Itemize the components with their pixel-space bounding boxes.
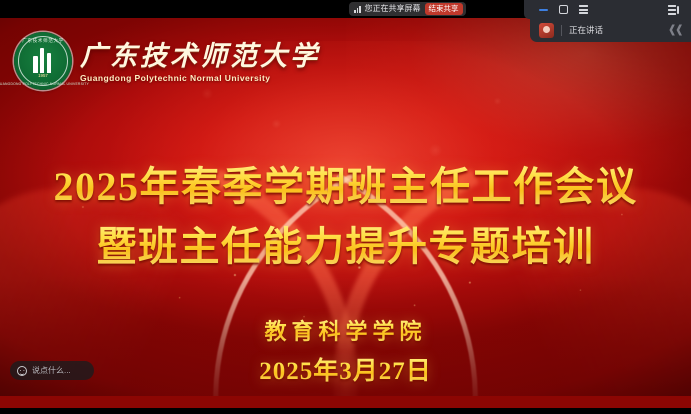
share-status-text: 您正在共享屏幕 — [365, 5, 421, 13]
slide-date: 2025年3月27日 — [0, 351, 691, 387]
university-name-cn: 广东技术师范大学 — [80, 41, 320, 71]
chat-placeholder-text: 说点什么... — [32, 367, 71, 375]
signal-bars-icon — [354, 6, 361, 13]
emblem-year: 1957 — [38, 73, 48, 78]
active-speaker-strip[interactable]: 正在讲话 ❰❰ — [530, 19, 691, 42]
smiley-face-icon[interactable] — [17, 366, 27, 376]
layout-panel-icon[interactable] — [668, 4, 679, 15]
participant-avatar — [539, 23, 554, 38]
emblem-tower-mark — [33, 47, 53, 73]
screen-share-status-bar: 您正在共享屏幕 结束共享 — [349, 2, 466, 16]
double-chevron-left-icon[interactable]: ❰❰ — [668, 25, 682, 36]
slide-bottom-border — [0, 396, 691, 408]
screen-share-window: 广东技术师范大学 1957 GUANGDONG POLYTECHNIC NORM… — [0, 0, 691, 414]
chat-input[interactable]: 说点什么... — [10, 361, 94, 380]
window-bottom-bar — [0, 408, 691, 414]
university-name-en: Guangdong Polytechnic Normal University — [80, 73, 320, 83]
slide-title-line-2: 暨班主任能力提升专题培训 — [0, 214, 691, 272]
window-controls-bar — [524, 0, 691, 19]
strip-divider — [561, 25, 562, 36]
slide-department: 教育科学学院 — [0, 314, 691, 346]
stop-share-button[interactable]: 结束共享 — [425, 3, 463, 15]
slide-title-line-1: 2025年春季学期班主任工作会议 — [0, 154, 691, 212]
university-name-block: 广东技术师范大学 Guangdong Polytechnic Normal Un… — [80, 39, 320, 82]
university-emblem-icon: 广东技术师范大学 1957 GUANGDONG POLYTECHNIC NORM… — [14, 32, 72, 90]
minimize-icon[interactable] — [538, 4, 549, 15]
emblem-arc-top-text: 广东技术师范大学 — [22, 38, 64, 44]
list-view-icon[interactable] — [578, 4, 589, 15]
emblem-arc-bottom-text: GUANGDONG POLYTECHNIC NORMAL UNIVERSITY — [0, 82, 89, 86]
shared-slide-content: 广东技术师范大学 1957 GUANGDONG POLYTECHNIC NORM… — [0, 18, 691, 396]
speaking-status-text: 正在讲话 — [569, 26, 603, 35]
maximize-icon[interactable] — [558, 4, 569, 15]
university-branding: 广东技术师范大学 1957 GUANGDONG POLYTECHNIC NORM… — [14, 32, 320, 90]
